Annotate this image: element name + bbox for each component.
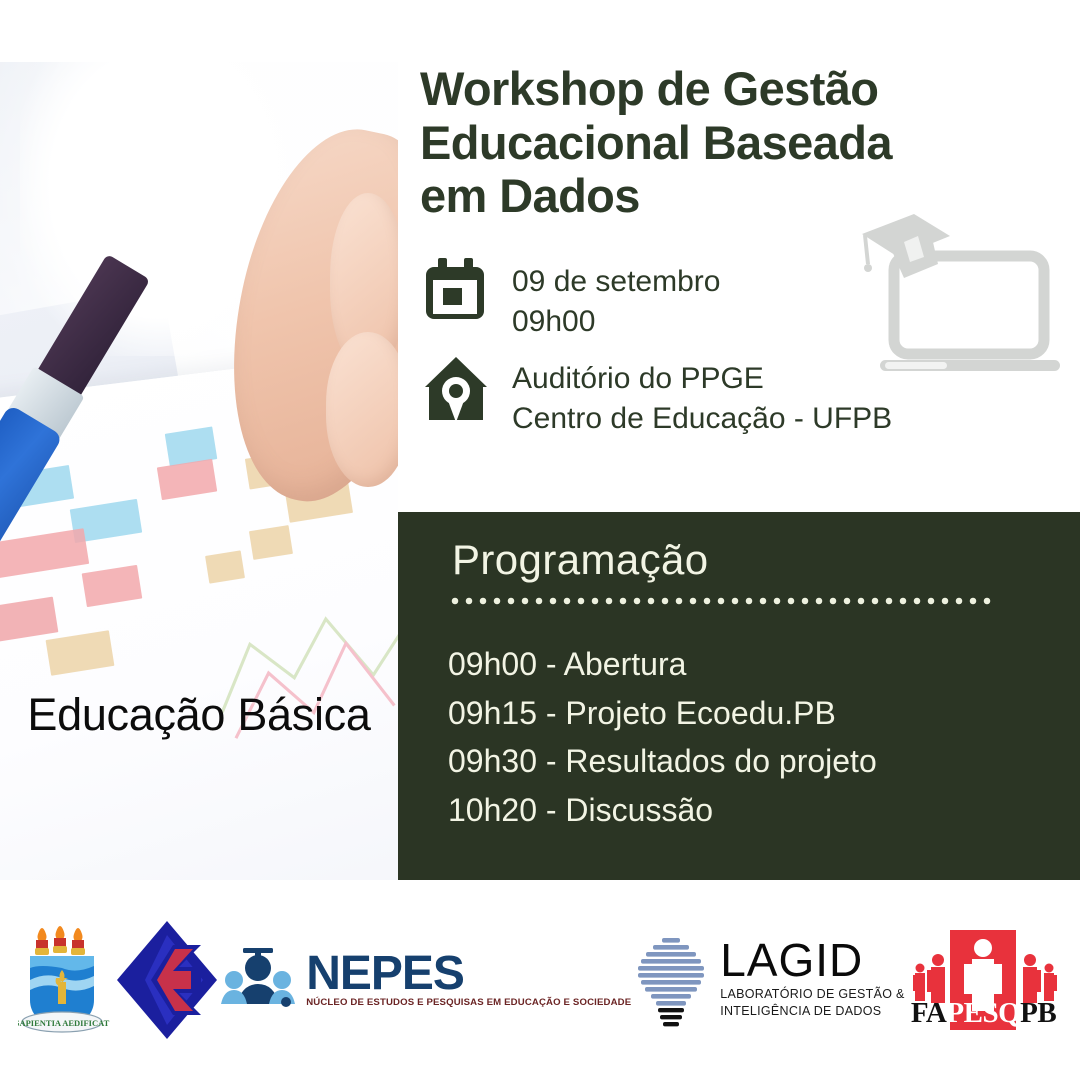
fapesq-pb: PB — [1020, 997, 1056, 1029]
dotted-divider — [448, 596, 994, 606]
location-pin-house-icon — [424, 355, 490, 423]
nepes-wordmark: NEPES — [306, 952, 631, 996]
schedule-panel: Programação 09h00 - Abertura 09h15 - Pro… — [398, 512, 1080, 880]
ufpb-crest-logo: SAPIENTIA AEDIFICAT — [18, 918, 114, 1042]
photo-finger-2 — [326, 332, 398, 487]
svg-text:SAPIENTIA AEDIFICAT: SAPIENTIA AEDIFICAT — [18, 1018, 110, 1028]
schedule-item: 09h15 - Projeto Ecoedu.PB — [448, 689, 877, 738]
event-photo — [0, 62, 398, 880]
info-location-text: Auditório do PPGE Centro de Educação - U… — [512, 355, 892, 438]
fapesq-wordmark: FAPESQPB — [906, 997, 1062, 1030]
nepes-tagline: NÚCLEO DE ESTUDOS E PESQUISAS EM EDUCAÇÃ… — [306, 997, 631, 1008]
fapesq-fa: FA — [911, 997, 947, 1029]
schedule-list: 09h00 - Abertura 09h15 - Projeto Ecoedu.… — [448, 640, 877, 835]
ppge-diamond-logo — [115, 919, 219, 1041]
logo-bar: SAPIENTIA AEDIFICAT NEPES NÚCLEO — [0, 880, 1080, 1080]
lagid-bulb-icon — [632, 932, 710, 1028]
schedule-heading: Programação — [452, 536, 709, 584]
lagid-logo: LAGID LABORATÓRIO DE GESTÃO & INTELIGÊNC… — [632, 932, 904, 1028]
nepes-figures-icon — [220, 942, 296, 1018]
fapesq-pb-logo: FAPESQPB — [906, 926, 1062, 1034]
fapesq-pesq: PESQ — [946, 997, 1020, 1029]
info-row-date: 09 de setembro 09h00 — [424, 258, 1064, 341]
schedule-item: 10h20 - Discussão — [448, 786, 877, 835]
header: Workshop de Gestão Educacional Baseada e… — [420, 62, 1060, 223]
nepes-logo: NEPES NÚCLEO DE ESTUDOS E PESQUISAS EM E… — [220, 942, 631, 1018]
calendar-icon — [424, 258, 490, 326]
event-info: 09 de setembro 09h00 Auditório do PPGE C… — [424, 258, 1064, 452]
lagid-wordmark: LAGID — [720, 940, 904, 981]
schedule-item: 09h30 - Resultados do projeto — [448, 737, 877, 786]
info-row-location: Auditório do PPGE Centro de Educação - U… — [424, 355, 1064, 438]
poster-canvas: Educação Básica Workshop de Gestão Educa… — [0, 0, 1080, 1080]
schedule-item: 09h00 - Abertura — [448, 640, 877, 689]
info-date-text: 09 de setembro 09h00 — [512, 258, 720, 341]
lagid-tagline: LABORATÓRIO DE GESTÃO & INTELIGÊNCIA DE … — [720, 986, 904, 1020]
photo-caption: Educação Básica — [0, 690, 398, 740]
page-title: Workshop de Gestão Educacional Baseada e… — [420, 62, 1060, 223]
